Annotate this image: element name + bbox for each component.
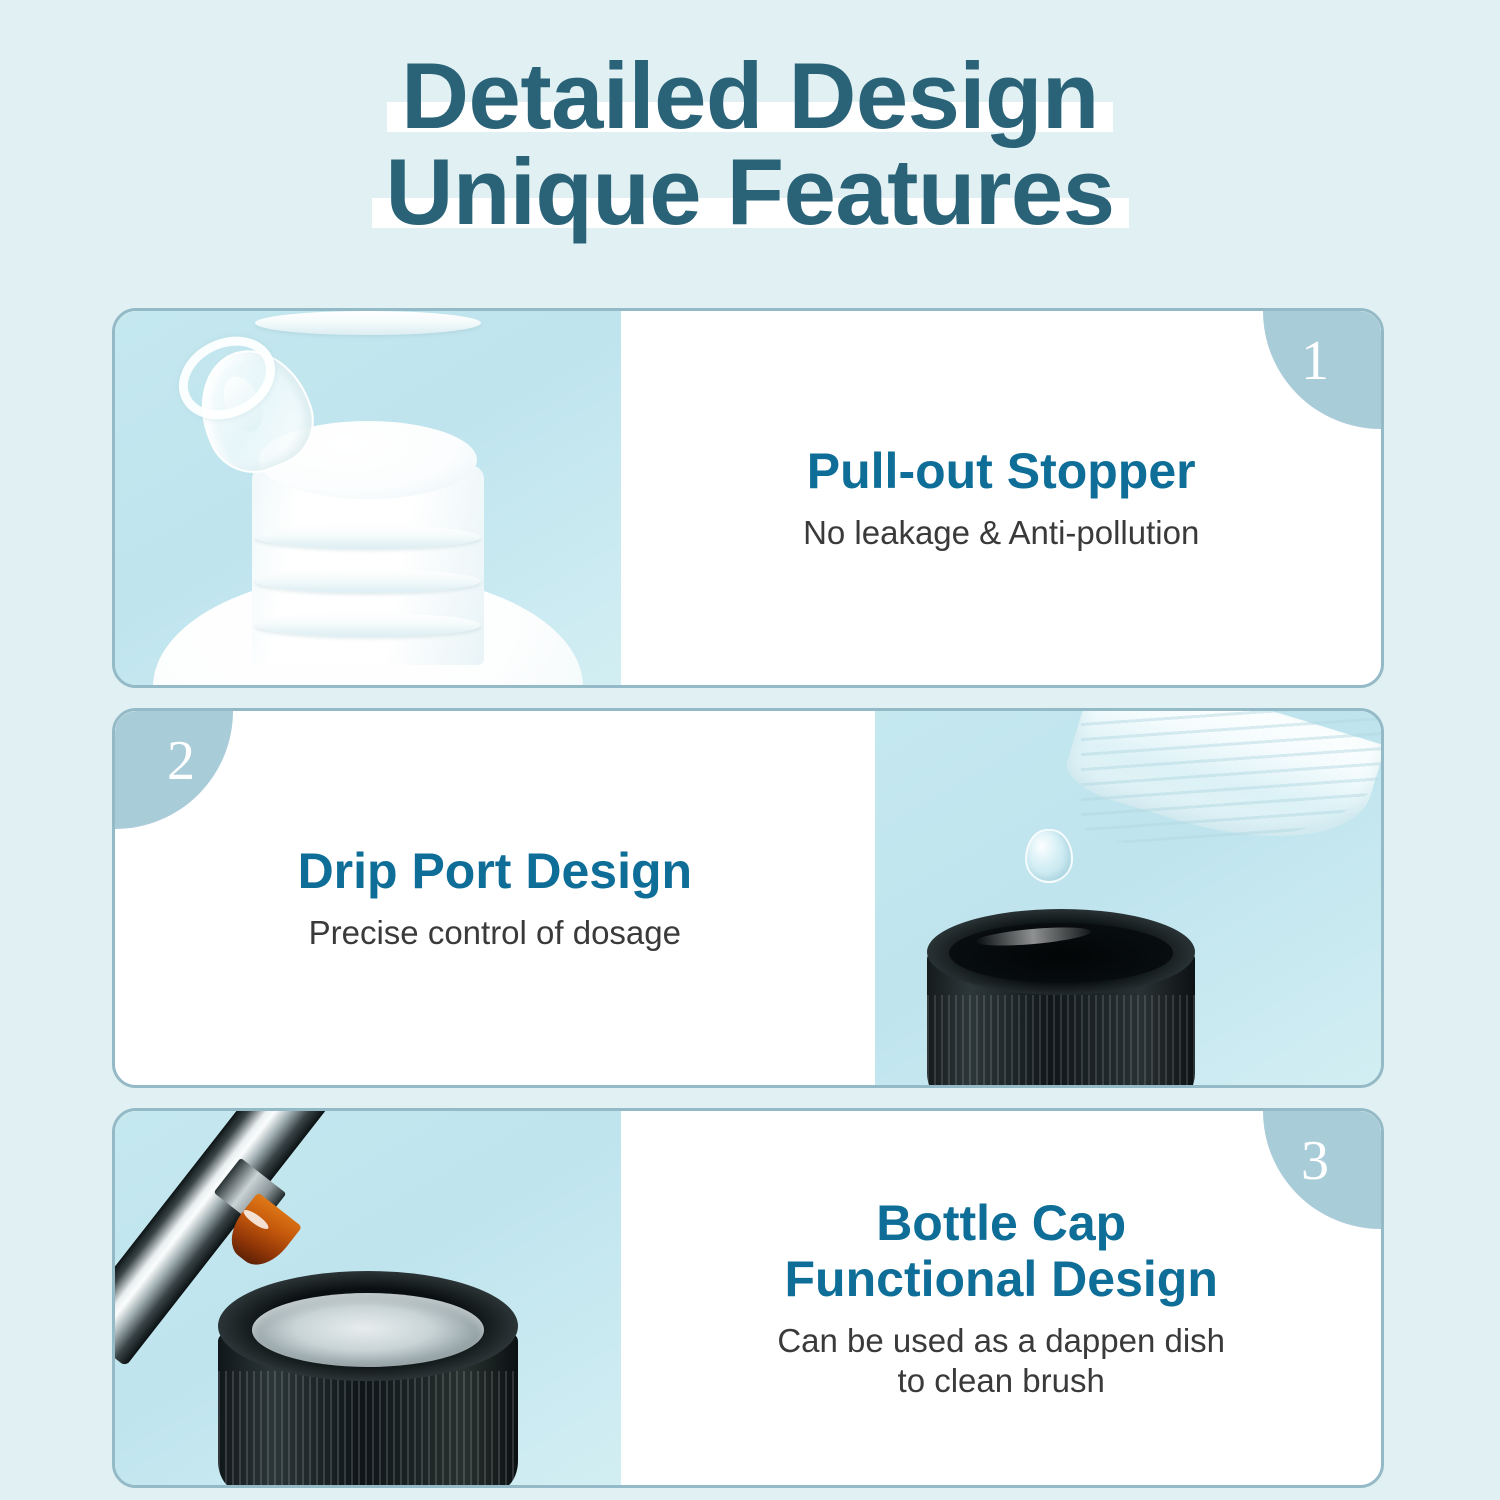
- feature-image-bottle-cap-dappen-dish: [115, 1111, 621, 1485]
- bottle-thread-ring-2: [255, 613, 481, 637]
- feature-subtitle-1: No leakage & Anti-pollution: [803, 513, 1199, 553]
- cap-liquid-pool: [252, 1293, 484, 1367]
- page-title-text-1: Detailed Design: [401, 43, 1099, 148]
- black-cap-group-2: [927, 909, 1195, 1085]
- cap-ribs-texture-3: [218, 1371, 518, 1485]
- feature-text-panel-2: Drip Port Design Precise control of dosa…: [115, 711, 875, 1085]
- bottle-thread-ring-4: [255, 525, 481, 549]
- feature-image-pull-out-stopper: [115, 311, 621, 685]
- feature-heading-1: Pull-out Stopper: [807, 443, 1196, 499]
- feature-text-panel-3: Bottle Cap Functional Design Can be used…: [621, 1111, 1381, 1485]
- feature-subtitle-2: Precise control of dosage: [309, 913, 681, 953]
- page-title-block: Detailed Design Unique Features: [0, 48, 1500, 240]
- step-badge-number-3: 3: [1301, 1133, 1329, 1189]
- page-title-text-2: Unique Features: [386, 139, 1115, 244]
- feature-heading-3: Bottle Cap Functional Design: [785, 1195, 1218, 1307]
- feature-card-2: Drip Port Design Precise control of dosa…: [112, 708, 1384, 1088]
- page-title-line-1: Detailed Design: [401, 48, 1099, 144]
- feature-text-panel-1: Pull-out Stopper No leakage & Anti-pollu…: [621, 311, 1381, 685]
- step-badge-number-1: 1: [1301, 333, 1329, 389]
- page-title-line-2: Unique Features: [386, 144, 1115, 240]
- bottle-thread-ring-3: [255, 569, 481, 593]
- step-badge-number-2: 2: [167, 733, 195, 789]
- feature-subtitle-3: Can be used as a dappen dish to clean br…: [777, 1321, 1225, 1400]
- feature-image-drip-port: [875, 711, 1381, 1085]
- liquid-droplet-shape: [1025, 829, 1073, 883]
- cap-ribs-texture-2: [927, 995, 1195, 1085]
- black-cap-group-3: [218, 1271, 518, 1485]
- feature-card-1: Pull-out Stopper No leakage & Anti-pollu…: [112, 308, 1384, 688]
- feature-card-3: Bottle Cap Functional Design Can be used…: [112, 1108, 1384, 1488]
- feature-heading-2: Drip Port Design: [298, 843, 692, 899]
- bottle-thread-ring-1: [255, 311, 481, 335]
